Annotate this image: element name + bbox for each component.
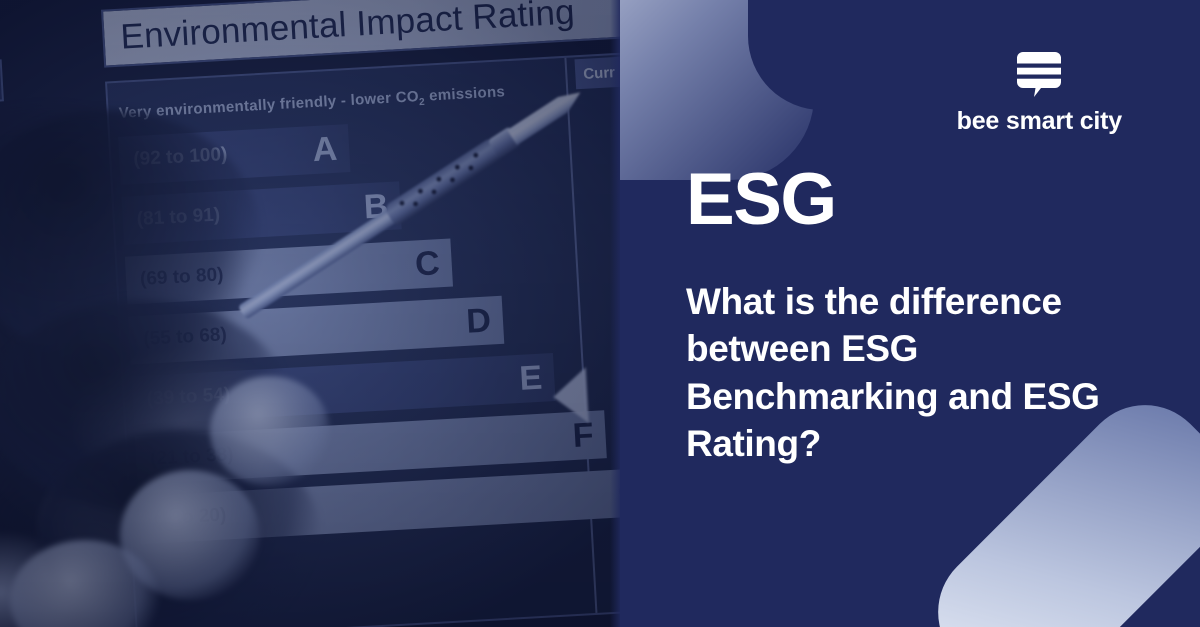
certificate-subtitle-tail: emissions	[424, 83, 505, 104]
certificate-title-text: Environmental Impact Rating	[119, 0, 575, 58]
fingertip-1	[210, 376, 330, 486]
page-title: ESG	[686, 163, 836, 236]
hero-photo: Environmental Impact Rating Very environ…	[0, 0, 620, 627]
brand-name: bee smart city	[957, 109, 1122, 134]
photo-inner: Environmental Impact Rating Very environ…	[0, 0, 620, 627]
rating-band-e-letter: E	[519, 361, 544, 396]
brand-logo[interactable]: bee smart city	[957, 52, 1122, 134]
headline: What is the difference between ESG Bench…	[686, 278, 1136, 467]
rating-band-c-letter: C	[414, 246, 440, 281]
certificate-column-header: Curr	[575, 55, 620, 90]
esg-social-card: Environmental Impact Rating Very environ…	[0, 0, 1200, 627]
content-panel: bee smart city ESG What is the differenc…	[620, 0, 1200, 627]
current-rating-arrow-icon	[552, 367, 589, 425]
rating-band-d-letter: D	[465, 303, 491, 338]
certificate-column-header-text: Curr	[583, 64, 616, 83]
speech-bubble-striped-icon	[1017, 52, 1061, 100]
